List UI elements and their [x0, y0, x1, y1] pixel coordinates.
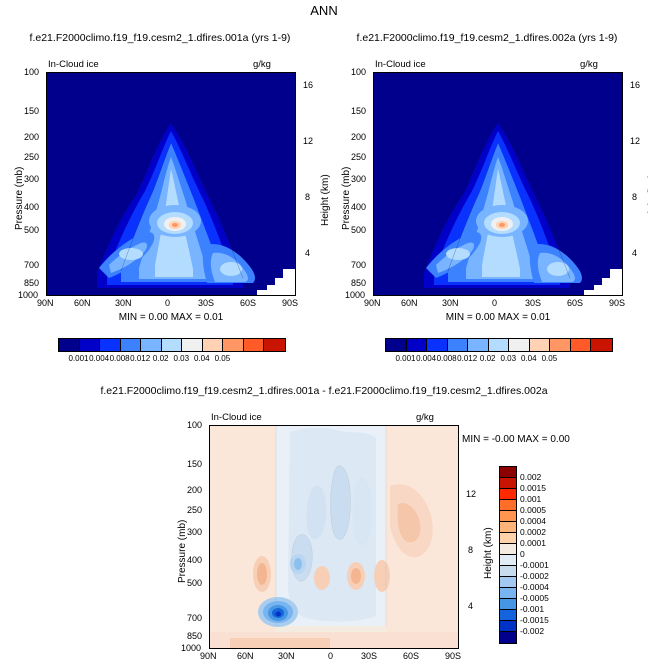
panel2-ytick-right-8: 8: [632, 192, 637, 202]
panel3-minmax: MIN = -0.00 MAX = 0.00: [462, 434, 570, 445]
panel1-ytick-400: 400: [24, 202, 39, 212]
panel2-xtick-0: 0: [492, 298, 497, 308]
panel2-colorbar: [385, 338, 613, 352]
panel3-plot: [209, 425, 459, 649]
panel1-ytick-300: 300: [24, 174, 39, 184]
panel3-ytick-1000: 1000: [181, 643, 201, 653]
panel3-ytick-250: 250: [187, 505, 202, 515]
panel2-ytick-right-12: 12: [630, 136, 640, 146]
panel1-contour-field: [47, 73, 295, 295]
panel2-xtick-30S: 30S: [525, 298, 541, 308]
panel-title-case1: f.e21.F2000climo.f19_f19.cesm2_1.dfires.…: [6, 32, 314, 44]
panel1-colorbar-labels: 0.001 0.004 0.008 0.012 0.02 0.03 0.04 0…: [58, 354, 284, 366]
panel1-ytick-200: 200: [24, 132, 39, 142]
panel1-xtick-90N: 90N: [37, 298, 54, 308]
panel3-xtick-0: 0: [328, 651, 333, 661]
panel2-xtick-30N: 30N: [442, 298, 459, 308]
panel2-ytick-500: 500: [351, 225, 366, 235]
panel3-ytick-700: 700: [187, 613, 202, 623]
panel2-ytick-100: 100: [351, 67, 366, 77]
panel2-units-label: g/kg: [580, 59, 598, 70]
panel3-xtick-90S: 90S: [445, 651, 461, 661]
panel3-field-label: In-Cloud ice: [211, 412, 262, 423]
panel1-colorbar: [58, 338, 286, 352]
panel-title-diff: f.e21.F2000climo.f19_f19.cesm2_1.dfires.…: [0, 385, 648, 397]
panel1-ytick-500: 500: [24, 225, 39, 235]
panel2-xtick-90S: 90S: [609, 298, 625, 308]
panel3-xtick-30S: 30S: [361, 651, 377, 661]
panel2-ytick-300: 300: [351, 174, 366, 184]
panel2-ytick-700: 700: [351, 260, 366, 270]
panel3-colorbar: [499, 466, 517, 644]
panel2-ytick-250: 250: [351, 152, 366, 162]
page-title: ANN: [0, 3, 648, 18]
panel2-ytick-right-16: 16: [630, 80, 640, 90]
panel1-ytick-1000: 1000: [18, 290, 38, 300]
panel3-ytick-right-4: 4: [468, 601, 473, 611]
panel1-ytick-100: 100: [24, 67, 39, 77]
panel2-ytick-400: 400: [351, 202, 366, 212]
panel1-plot: [46, 72, 296, 296]
panel3-xtick-60S: 60S: [403, 651, 419, 661]
panel1-ytick-right-16: 16: [303, 80, 313, 90]
panel1-xtick-90S: 90S: [282, 298, 298, 308]
panel3-contour-field: [210, 426, 458, 648]
panel2-ytick-1000: 1000: [345, 290, 365, 300]
panel3-colorbar-labels: 0.002 0.0015 0.001 0.0005 0.0004 0.0002 …: [520, 466, 580, 642]
panel3-units-label: g/kg: [416, 412, 434, 423]
panel2-ytick-850: 850: [351, 278, 366, 288]
panel1-ytick-150: 150: [24, 106, 39, 116]
panel2-plot: [373, 72, 623, 296]
panel2-contour-field: [374, 73, 622, 295]
panel1-ylabel-right: Height (km): [320, 174, 331, 226]
panel2-xtick-60S: 60S: [567, 298, 583, 308]
panel1-ytick-right-8: 8: [305, 192, 310, 202]
panel2-minmax: MIN = 0.00 MAX = 0.01: [373, 312, 623, 323]
panel3-ytick-200: 200: [187, 485, 202, 495]
panel3-ylabel-right: Height (km): [483, 527, 494, 579]
panel2-ytick-200: 200: [351, 132, 366, 142]
panel1-xtick-0: 0: [165, 298, 170, 308]
panel1-ytick-850: 850: [24, 278, 39, 288]
panel3-xtick-30N: 30N: [278, 651, 295, 661]
panel1-ytick-700: 700: [24, 260, 39, 270]
panel1-xtick-30S: 30S: [198, 298, 214, 308]
panel3-ytick-right-12: 12: [466, 489, 476, 499]
panel2-colorbar-labels: 0.001 0.004 0.008 0.012 0.02 0.03 0.04 0…: [385, 354, 611, 366]
panel3-xtick-90N: 90N: [200, 651, 217, 661]
panel1-minmax: MIN = 0.00 MAX = 0.01: [46, 312, 296, 323]
panel3-ytick-500: 500: [187, 578, 202, 588]
panel1-ytick-right-4: 4: [305, 248, 310, 258]
panel1-xtick-30N: 30N: [115, 298, 132, 308]
panel1-xtick-60N: 60N: [74, 298, 91, 308]
panel3-ytick-400: 400: [187, 555, 202, 565]
panel2-ytick-right-4: 4: [632, 248, 637, 258]
panel1-xtick-60S: 60S: [240, 298, 256, 308]
panel2-xtick-90N: 90N: [364, 298, 381, 308]
panel3-ytick-right-8: 8: [468, 545, 473, 555]
panel1-units-label: g/kg: [253, 59, 271, 70]
panel1-ytick-250: 250: [24, 152, 39, 162]
panel3-ytick-100: 100: [187, 420, 202, 430]
panel2-xtick-60N: 60N: [401, 298, 418, 308]
panel2-ytick-150: 150: [351, 106, 366, 116]
panel-title-case2: f.e21.F2000climo.f19_f19.cesm2_1.dfires.…: [333, 32, 641, 44]
panel3-ytick-850: 850: [187, 631, 202, 641]
panel1-ytick-right-12: 12: [303, 136, 313, 146]
panel3-ytick-300: 300: [187, 527, 202, 537]
panel3-xtick-60N: 60N: [237, 651, 254, 661]
panel2-field-label: In-Cloud ice: [375, 59, 426, 70]
panel1-field-label: In-Cloud ice: [48, 59, 99, 70]
panel3-ytick-150: 150: [187, 459, 202, 469]
